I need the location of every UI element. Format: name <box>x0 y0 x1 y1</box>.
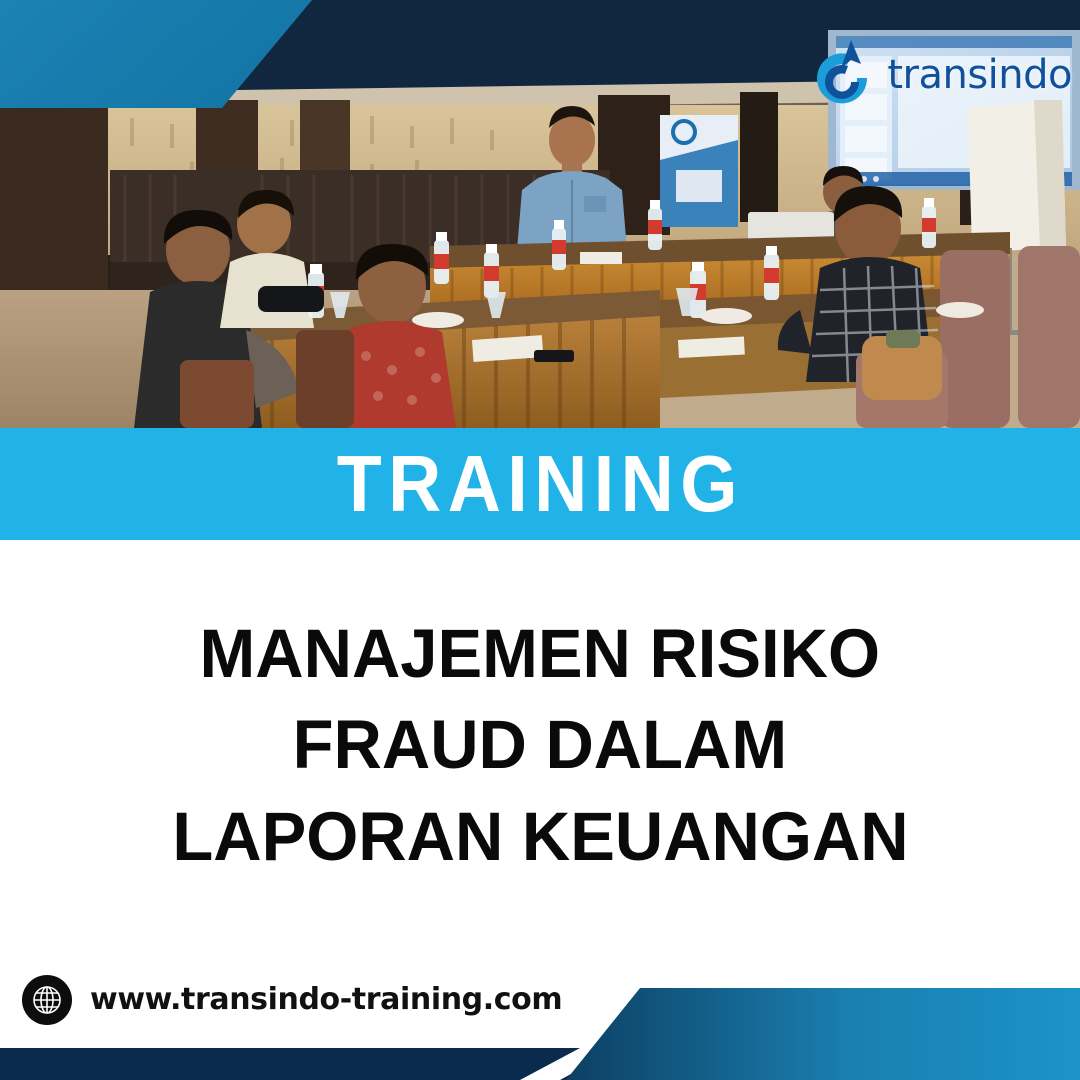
website-url[interactable]: www.transindo-training.com <box>90 985 562 1015</box>
training-poster: transindo TRAINING MANAJEMEN RISIKO FRAU… <box>0 0 1080 1080</box>
globe-glyph <box>30 983 64 1017</box>
transindo-logo: transindo <box>807 38 1072 112</box>
blue-angled-corner-shape <box>0 0 330 108</box>
banner-title: TRAINING <box>336 444 743 524</box>
website-footer[interactable]: www.transindo-training.com <box>22 975 562 1025</box>
transindo-swoosh-arrow-icon <box>807 38 881 112</box>
footer-bar <box>0 1048 1080 1080</box>
course-title-line-2: FRAUD DALAM <box>293 699 787 790</box>
course-title-line-1: MANAJEMEN RISIKO <box>200 608 881 699</box>
course-title-block: MANAJEMEN RISIKO FRAUD DALAM LAPORAN KEU… <box>0 545 1080 945</box>
top-left-decoration <box>0 0 330 108</box>
training-banner: TRAINING <box>0 428 1080 540</box>
transindo-wordmark: transindo <box>887 55 1072 95</box>
course-title-line-3: LAPORAN KEUANGAN <box>172 791 908 882</box>
swoosh-arrow-shape <box>807 38 881 112</box>
globe-icon <box>22 975 72 1025</box>
